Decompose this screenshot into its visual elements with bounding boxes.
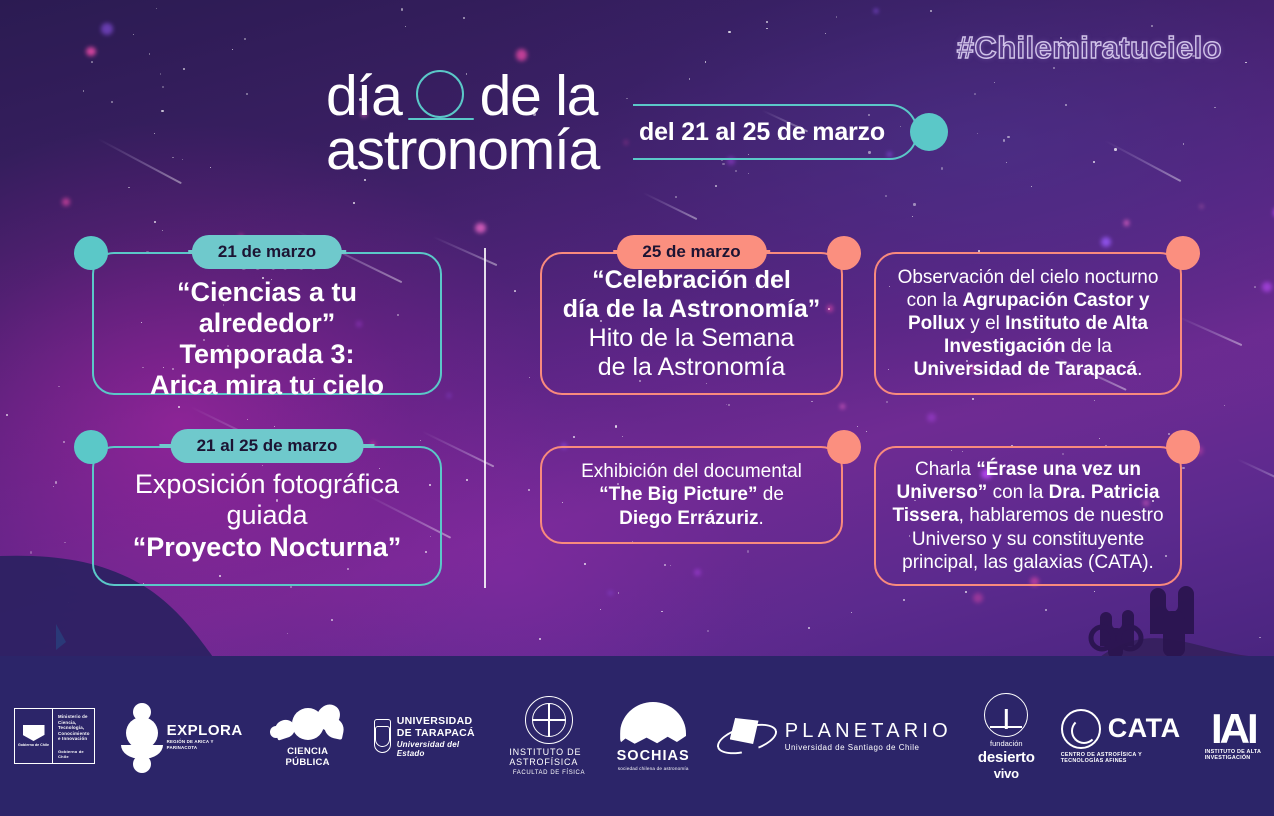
explora-mark-icon — [121, 703, 162, 769]
logo-explora: EXPLORA REGIÓN DE ARICA Y PARINACOTA — [121, 703, 244, 769]
column-divider — [484, 248, 486, 588]
desierto-l2: vivo — [994, 767, 1019, 780]
logo-sochias: SOCHIAS sociedad chilena de astronomía — [617, 702, 690, 771]
desierto-tree-icon — [984, 693, 1028, 737]
event-card-corner-dot-icon — [1166, 236, 1200, 270]
logo-universidad-tarapaca: UNIVERSIDAD DE TARAPACÁ Universidad del … — [374, 715, 482, 758]
logo-ciencia-publica: CIENCIA PÚBLICA — [270, 704, 346, 768]
event-card-exposicion: 21 al 25 de marzoExposición fotográficag… — [92, 446, 442, 586]
event-card-date-badge: 25 de marzo — [616, 235, 766, 269]
logo-ministerio: Gobierno de Chile Ministerio deCiencia,T… — [14, 708, 95, 764]
desierto-l1: desierto — [978, 750, 1035, 765]
logo-planetario: PLANETARIO Universidad de Santiago de Ch… — [716, 714, 952, 758]
event-card-line: Exposición fotográfica — [135, 469, 399, 500]
date-range-label: del 21 al 25 de marzo — [639, 104, 885, 160]
planetario-sub: Universidad de Santiago de Chile — [785, 743, 952, 752]
event-card-paragraph: Exhibición del documental“The Big Pictur… — [581, 460, 802, 530]
event-card-line: de la Astronomía — [598, 353, 786, 382]
event-card-text: “Celebración deldía de la Astronomía”Hit… — [540, 252, 843, 395]
astrofisica-name: INSTITUTO DE ASTROFÍSICA — [509, 747, 588, 767]
event-card-celebracion: 25 de marzo“Celebración deldía de la Ast… — [540, 252, 843, 395]
event-card-line: Temporada 3: — [179, 339, 354, 370]
uta-name: UNIVERSIDAD DE TARAPACÁ — [397, 715, 482, 739]
cata-name: CATA — [1108, 715, 1181, 742]
event-card-line: guiada — [226, 500, 307, 531]
ministerio-gob-2: Gobierno de Chile — [58, 749, 90, 759]
ciencia-publica-l2: PÚBLICA — [286, 758, 330, 769]
explora-sub: REGIÓN DE ARICA Y PARINACOTA — [167, 739, 244, 750]
event-card-charla: Charla “Érase una vez un Universo” con l… — [874, 446, 1182, 586]
ciencia-publica-l1: CIENCIA — [286, 747, 330, 758]
event-card-date-badge: 21 al 25 de marzo — [171, 429, 364, 463]
event-card-line: Arica mira tu cielo — [150, 370, 384, 401]
event-card-line: Hito de la Semana — [589, 324, 795, 353]
logo-iai: IAI INSTITUTO DE ALTA INVESTIGACIÓN — [1205, 711, 1262, 762]
event-card-corner-dot-icon — [827, 236, 861, 270]
event-card-corner-dot-icon — [1166, 430, 1200, 464]
uta-shield-icon — [374, 719, 391, 753]
event-card-paragraph: Charla “Érase una vez un Universo” con l… — [892, 458, 1164, 574]
logo-cata: CATA CENTRO DE ASTROFÍSICA Y TECNOLOGÍAS… — [1061, 709, 1181, 764]
logo-word-astronomia: astronomía — [326, 122, 599, 179]
event-card-text: Exposición fotográficaguiada“Proyecto No… — [92, 446, 442, 586]
event-card-observacion: Observación del cielo nocturno con la Ag… — [874, 252, 1182, 395]
sochias-name: SOCHIAS — [617, 748, 690, 764]
sponsor-footer: Gobierno de Chile Ministerio deCiencia,T… — [0, 656, 1274, 816]
date-range-dot-icon — [910, 113, 948, 151]
event-card-text: Observación del cielo nocturno con la Ag… — [874, 252, 1182, 395]
ministerio-gob: Gobierno de Chile — [18, 743, 49, 747]
hashtag: #Chilemiratucielo — [957, 30, 1222, 66]
logo-word-dia: día — [326, 68, 402, 125]
event-card-corner-dot-icon — [827, 430, 861, 464]
logo-instituto-astrofisica: INSTITUTO DE ASTROFÍSICA FACULTAD DE FÍS… — [509, 696, 588, 776]
astronomy-day-poster: #Chilemiratucielo día de la astronomía d… — [0, 0, 1274, 816]
cata-spiral-icon — [1061, 709, 1101, 749]
desierto-l0: fundación — [990, 739, 1023, 748]
sochias-dome-icon — [620, 702, 686, 746]
iai-sub: INSTITUTO DE ALTA INVESTIGACIÓN — [1205, 749, 1262, 761]
event-card-line: “Proyecto Nocturna” — [133, 532, 402, 563]
uta-sub: Universidad del Estado — [397, 740, 482, 758]
logo-desierto-vivo: fundación desierto vivo — [978, 693, 1035, 780]
event-card-corner-dot-icon — [74, 430, 108, 464]
event-card-text: Exhibición del documental“The Big Pictur… — [540, 446, 843, 544]
planetario-mark-icon — [716, 714, 778, 758]
event-card-line: día de la Astronomía” — [563, 295, 820, 324]
event-card-line: “Ciencias a tu alrededor” — [110, 277, 424, 340]
explora-name: EXPLORA — [167, 722, 244, 739]
astrofisica-seal-icon — [525, 696, 573, 744]
logo-word-dela: de la — [480, 68, 598, 125]
event-card-podcast: 21 de marzoPodcast“Ciencias a tu alreded… — [92, 252, 442, 395]
sochias-sub: sociedad chilena de astronomía — [618, 766, 689, 771]
ministerio-lines: Ministerio deCiencia,Tecnología,Conocimi… — [58, 714, 90, 742]
event-card-paragraph: Observación del cielo nocturno con la Ag… — [892, 266, 1164, 382]
cata-sub: CENTRO DE ASTROFÍSICA Y TECNOLOGÍAS AFIN… — [1061, 752, 1181, 764]
event-card-text: Charla “Érase una vez un Universo” con l… — [874, 446, 1182, 586]
event-card-text: Podcast“Ciencias a tu alrededor”Temporad… — [92, 252, 442, 395]
iai-name: IAI — [1211, 711, 1256, 747]
planet-circle-icon — [408, 68, 474, 124]
event-card-corner-dot-icon — [74, 236, 108, 270]
date-range-banner: del 21 al 25 de marzo — [633, 104, 948, 160]
astrofisica-sub: FACULTAD DE FÍSICA — [513, 770, 585, 776]
planetario-name: PLANETARIO — [785, 720, 952, 743]
chile-crest-icon: Gobierno de Chile — [15, 709, 53, 763]
event-card-date-badge: 21 de marzo — [192, 235, 342, 269]
event-card-line: “Celebración del — [592, 266, 791, 295]
event-card-exhibicion: Exhibición del documental“The Big Pictur… — [540, 446, 843, 544]
ciencia-publica-mark-icon — [270, 704, 346, 744]
